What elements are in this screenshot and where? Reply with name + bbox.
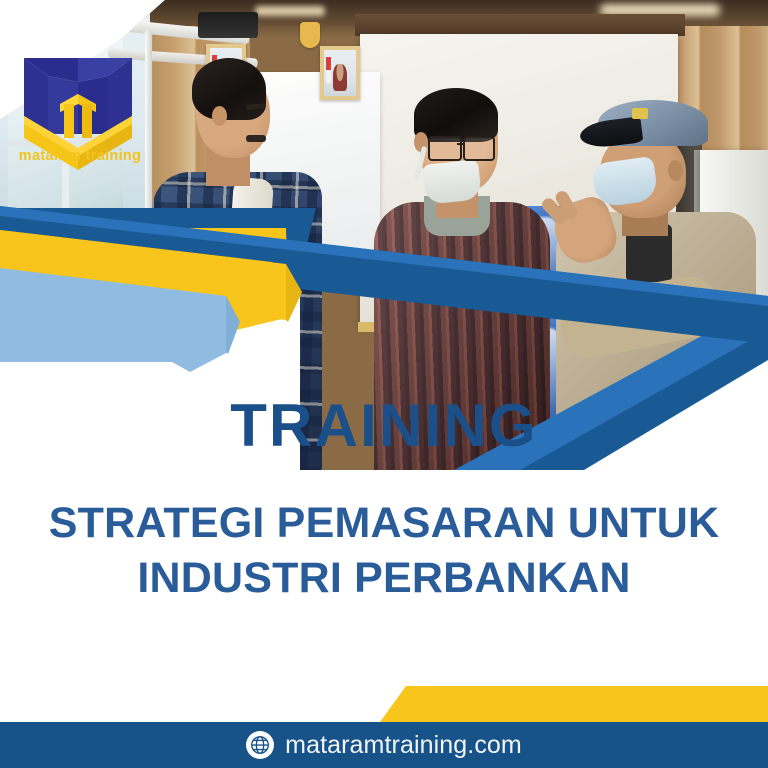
footer-content: mataramtraining.com (246, 731, 522, 760)
globe-icon (246, 731, 274, 759)
page-subtitle: STRATEGI PEMASARAN UNTUK INDUSTRI PERBAN… (24, 496, 744, 605)
footer-yellow-accent (380, 686, 768, 722)
subtitle-line-1: STRATEGI PEMASARAN UNTUK (24, 496, 744, 551)
page-title: TRAINING (0, 396, 768, 456)
subtitle-line-2: INDUSTRI PERBANKAN (24, 551, 744, 606)
footer-website-url[interactable]: mataramtraining.com (285, 731, 522, 760)
logo-caption: mataram training (10, 148, 150, 164)
footer-bar: mataramtraining.com (0, 722, 768, 768)
poster-canvas: mataram training TRAINING STRATEGI PEMAS… (0, 0, 768, 768)
